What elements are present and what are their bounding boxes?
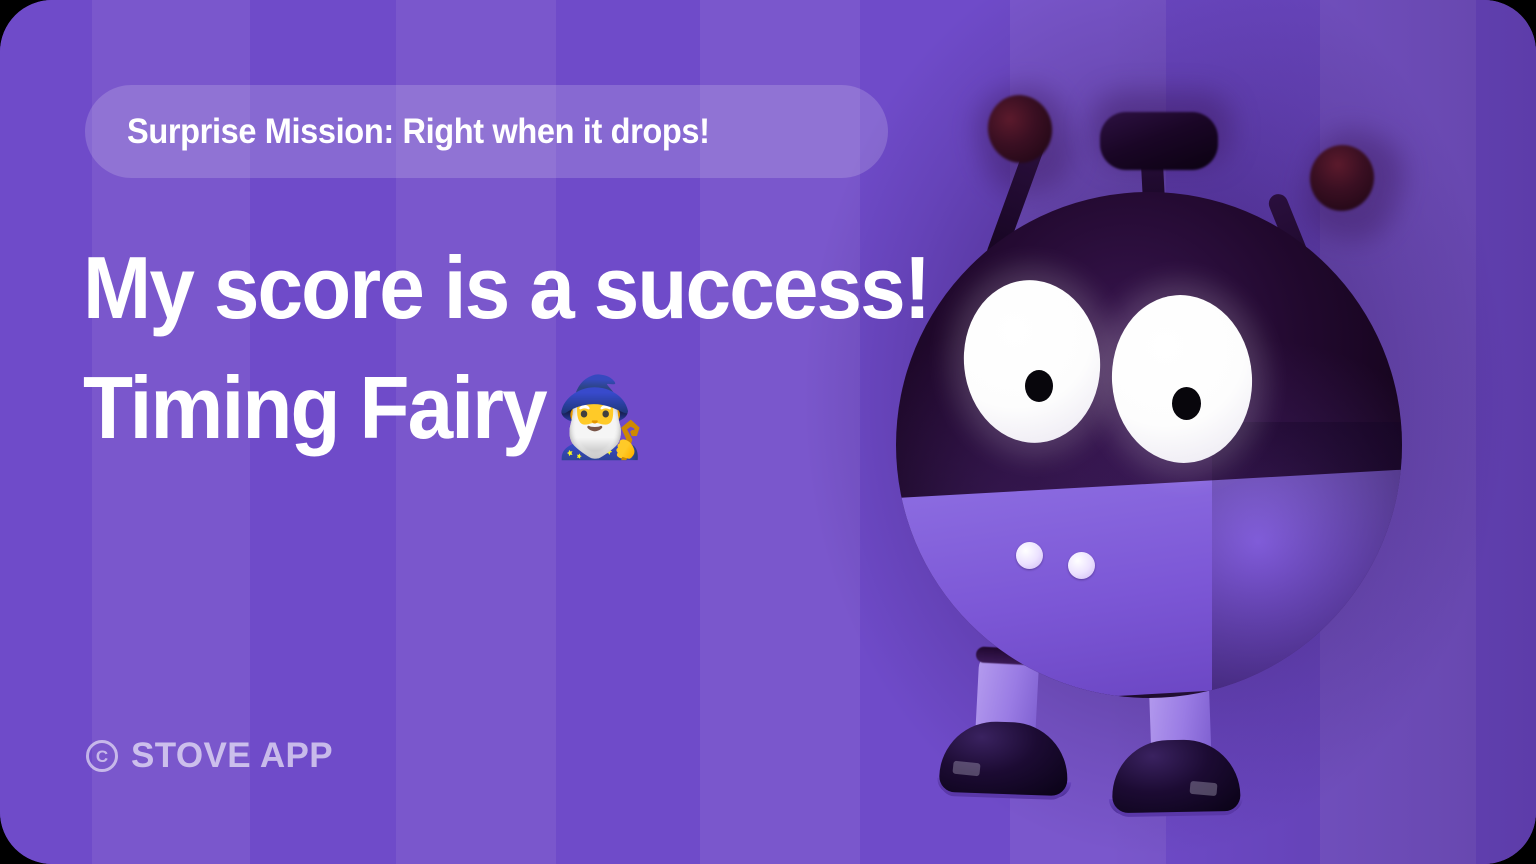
promo-card: Surprise Mission: Right when it drops! M… — [0, 0, 1536, 864]
mascot-body-shade — [1212, 422, 1402, 698]
mission-badge: Surprise Mission: Right when it drops! — [85, 85, 888, 178]
belly-button-1 — [1016, 542, 1043, 569]
mascot-character — [860, 40, 1480, 830]
headline-line-2: Timing Fairy — [83, 358, 546, 457]
antenna-center-cap — [1100, 112, 1218, 170]
headline-line-2-row: Timing Fairy🧙‍♂️ — [83, 348, 855, 468]
shoe-left — [939, 720, 1069, 796]
brand-name: STOVE APP — [131, 736, 333, 776]
man-mage-emoji: 🧙‍♂️ — [555, 373, 645, 461]
belly-button-2 — [1068, 552, 1095, 579]
headline: My score is a success! Timing Fairy🧙‍♂️ — [83, 228, 913, 468]
headline-line-1: My score is a success! — [83, 228, 855, 348]
pupil-left — [1025, 370, 1053, 402]
copy-block: Surprise Mission: Right when it drops! M… — [0, 0, 920, 864]
shoe-right — [1111, 739, 1240, 813]
pupil-right — [1172, 387, 1201, 420]
mission-badge-label: Surprise Mission: Right when it drops! — [127, 112, 710, 152]
shoe-right-tab — [1189, 781, 1217, 796]
footer-credit: C STOVE APP — [86, 736, 333, 776]
copyright-icon: C — [86, 740, 118, 772]
copyright-icon-glyph: C — [96, 748, 108, 765]
shoe-left-tab — [952, 761, 980, 777]
